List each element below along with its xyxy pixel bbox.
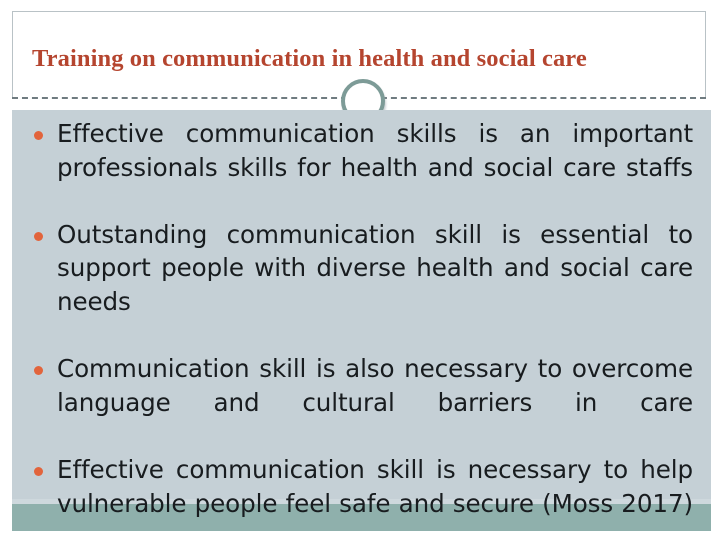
bullet-dot-icon [34,232,43,241]
presentation-slide: Training on communication in health and … [0,0,720,540]
list-item: Communication skill is also necessary to… [12,352,711,453]
list-item-text: Communication skill is also necessary to… [57,352,693,453]
bullet-list: Effective communication skills is an imp… [12,110,711,540]
list-item: Effective communication skills is an imp… [12,117,711,218]
list-item-text: Effective communication skill is necessa… [57,453,693,540]
list-item-text: Outstanding communication skill is essen… [57,218,693,352]
bullet-dot-icon [34,467,43,476]
list-item: Outstanding communication skill is essen… [12,218,711,352]
slide-title: Training on communication in health and … [32,44,692,74]
list-item: Effective communication skill is necessa… [12,453,711,540]
bullet-dot-icon [34,131,43,140]
bullet-dot-icon [34,366,43,375]
list-item-text: Effective communication skills is an imp… [57,117,693,218]
